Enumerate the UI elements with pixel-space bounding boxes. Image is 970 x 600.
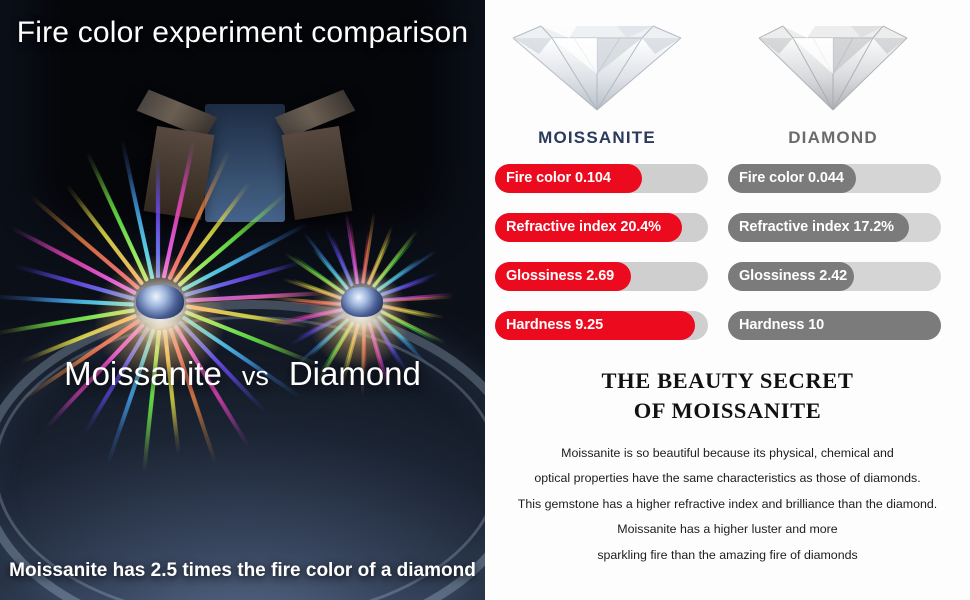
comparison-infographic: Fire color experiment comparison Moissan… <box>0 0 970 600</box>
bar-label: Refractive index 17.2% <box>739 213 894 242</box>
versus-label-moissanite: Moissanite <box>60 355 226 392</box>
beauty-secret-title-line1: THE BEAUTY SECRET <box>602 368 854 393</box>
diamond-gem-icon <box>743 14 923 114</box>
spec-bar-refractive-index-diamond: Refractive index 17.2% <box>728 213 941 242</box>
photo-caption: Moissanite has 2.5 times the fire color … <box>0 560 485 582</box>
spec-bar-column-moissanite: Fire color 0.104 Refractive index 20.4% … <box>495 164 708 360</box>
description-line: sparkling fire than the amazing fire of … <box>485 543 970 568</box>
diamond-gem-core <box>341 287 383 317</box>
spec-bar-glossiness-diamond: Glossiness 2.42 <box>728 262 941 291</box>
beauty-secret-title: THE BEAUTY SECRET OF MOISSANITE <box>485 366 970 426</box>
moissanite-gem <box>136 285 184 319</box>
column-heading-diamond: DIAMOND <box>733 128 933 148</box>
description-line: optical properties have the same charact… <box>485 466 970 491</box>
beauty-secret-section: THE BEAUTY SECRET OF MOISSANITE <box>485 366 970 426</box>
moissanite-gem-icon <box>507 14 687 114</box>
photo-title: Fire color experiment comparison <box>0 14 485 52</box>
versus-row: MoissanitevsDiamond <box>0 355 485 393</box>
spec-bars: Fire color 0.104 Refractive index 20.4% … <box>485 164 970 360</box>
diamond-stone-image <box>733 14 933 114</box>
description-line: Moissanite has a higher luster and more <box>485 517 970 542</box>
stone-images-row <box>485 0 970 128</box>
bar-label: Hardness 10 <box>739 311 824 340</box>
spec-bar-refractive-index-moissanite: Refractive index 20.4% <box>495 213 708 242</box>
bar-label: Refractive index 20.4% <box>506 213 661 242</box>
spec-bar-column-diamond: Fire color 0.044 Refractive index 17.2% … <box>728 164 941 360</box>
column-heading-moissanite: MOISSANITE <box>497 128 697 148</box>
spec-bar-fire-color-diamond: Fire color 0.044 <box>728 164 941 193</box>
description-paragraph: Moissanite is so beautiful because its p… <box>485 441 970 568</box>
bar-label: Glossiness 2.42 <box>739 262 847 291</box>
description-line: Moissanite is so beautiful because its p… <box>485 441 970 466</box>
versus-label-vs: vs <box>226 361 285 391</box>
diamond-gem <box>341 287 383 317</box>
bar-label: Fire color 0.104 <box>506 164 611 193</box>
description-line: This gemstone has a higher refractive in… <box>485 492 970 517</box>
spec-bar-glossiness-moissanite: Glossiness 2.69 <box>495 262 708 291</box>
column-headings-row: MOISSANITE DIAMOND <box>485 128 970 164</box>
bar-label: Hardness 9.25 <box>506 311 603 340</box>
beauty-secret-title-line2: OF MOISSANITE <box>634 398 822 423</box>
bar-label: Fire color 0.044 <box>739 164 844 193</box>
spec-bar-hardness-diamond: Hardness 10 <box>728 311 941 340</box>
specs-panel: MOISSANITE DIAMOND Fire color 0.104 Refr… <box>485 0 970 600</box>
moissanite-stone-image <box>497 14 697 114</box>
moissanite-gem-core <box>136 285 184 319</box>
versus-label-diamond: Diamond <box>285 355 425 392</box>
spec-bar-hardness-moissanite: Hardness 9.25 <box>495 311 708 340</box>
bar-label: Glossiness 2.69 <box>506 262 614 291</box>
spec-bar-fire-color-moissanite: Fire color 0.104 <box>495 164 708 193</box>
fire-color-photo-panel: Fire color experiment comparison Moissan… <box>0 0 485 600</box>
